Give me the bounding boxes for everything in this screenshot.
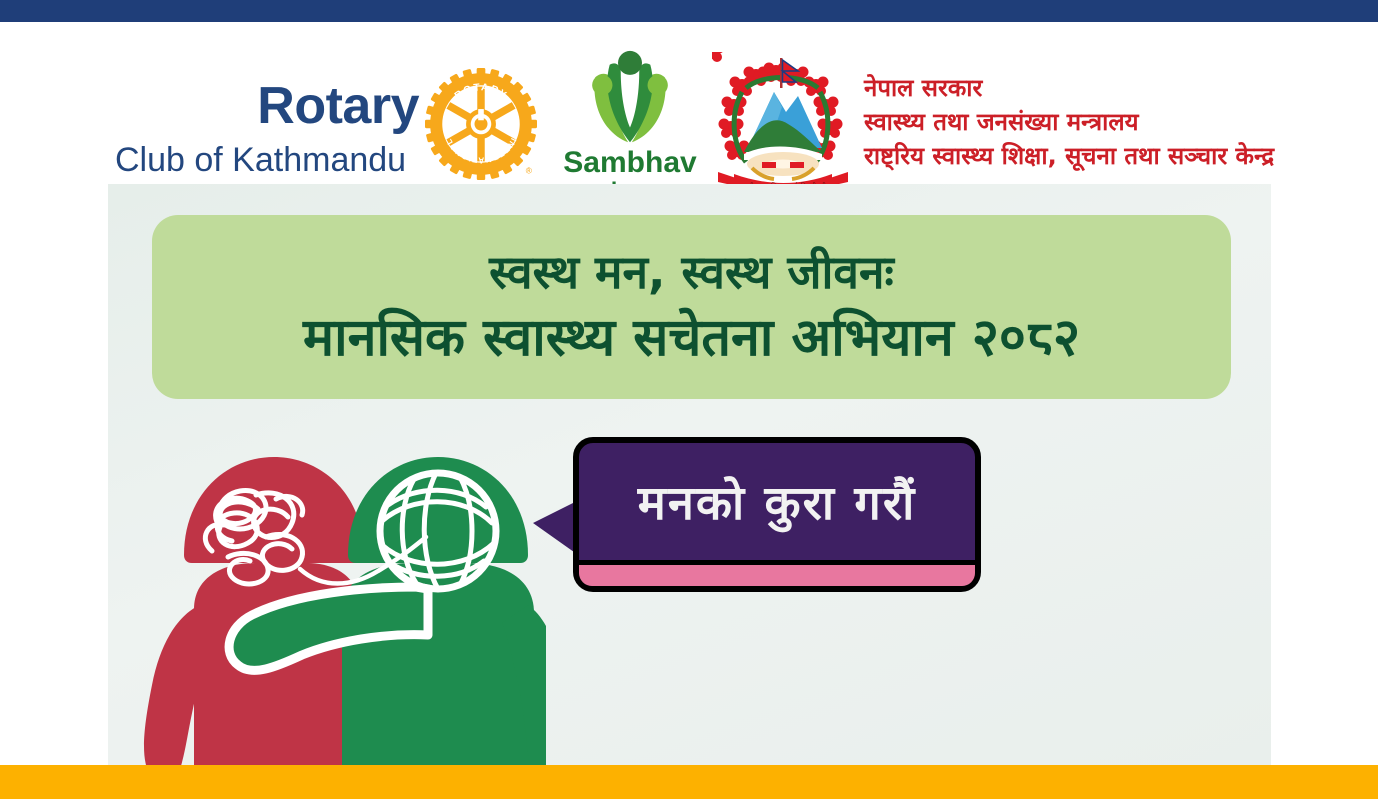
slide-content-panel: स्वस्थ मन, स्वस्थ जीवनः मानसिक स्वास्थ्य… [108,184,1271,765]
bottom-accent-bar [0,765,1378,799]
sambhav-name: Sambhav [556,148,704,178]
top-accent-bar [0,0,1378,22]
rotary-wordmark: Rotary [257,80,419,132]
nepal-government-logo: जननी जन्मभूमिश्च स्वर्गादपि गरीयसी नेपाल… [712,52,1274,192]
rotary-club-logo: Rotary Club of Kathmandu [112,70,537,190]
sambhav-logo: Sambhav Inc. [556,50,704,202]
slide-root: Rotary Club of Kathmandu [0,0,1378,799]
government-line-nepal: नेपाल सरकार [864,71,1274,105]
government-line-ministry: स्वास्थ्य तथा जनसंख्या मन्त्रालय [864,105,1274,139]
government-line-center: राष्ट्रिय स्वास्थ्य शिक्षा, सूचना तथा सञ… [864,139,1274,173]
two-people-support-illustration [116,429,546,765]
speech-bubble: मनको कुरा गरौं [533,437,981,592]
nepal-national-emblem-icon: जननी जन्मभूमिश्च स्वर्गादपि गरीयसी [712,52,854,192]
campaign-title-line-2: मानसिक स्वास्थ्य सचेतना अभियान २०८२ [303,309,1080,367]
registered-trademark-icon: ® [526,165,533,175]
speech-bubble-body: मनको कुरा गरौं [573,437,981,592]
speech-bubble-accent-strip [579,560,975,586]
sambhav-people-plant-icon [574,50,686,146]
header-logo-strip: Rotary Club of Kathmandu [0,22,1378,184]
campaign-title-line-1: स्वस्थ मन, स्वस्थ जीवनः [489,247,894,299]
government-text-block: नेपाल सरकार स्वास्थ्य तथा जनसंख्या मन्त्… [864,71,1274,173]
rotary-wheel-icon: ROTARY INTERNATIONAL ® [425,68,537,180]
campaign-title-banner: स्वस्थ मन, स्वस्थ जीवनः मानसिक स्वास्थ्य… [152,215,1231,399]
rotary-club-name: Club of Kathmandu [115,143,406,177]
speech-bubble-text: मनको कुरा गरौं [579,469,975,533]
